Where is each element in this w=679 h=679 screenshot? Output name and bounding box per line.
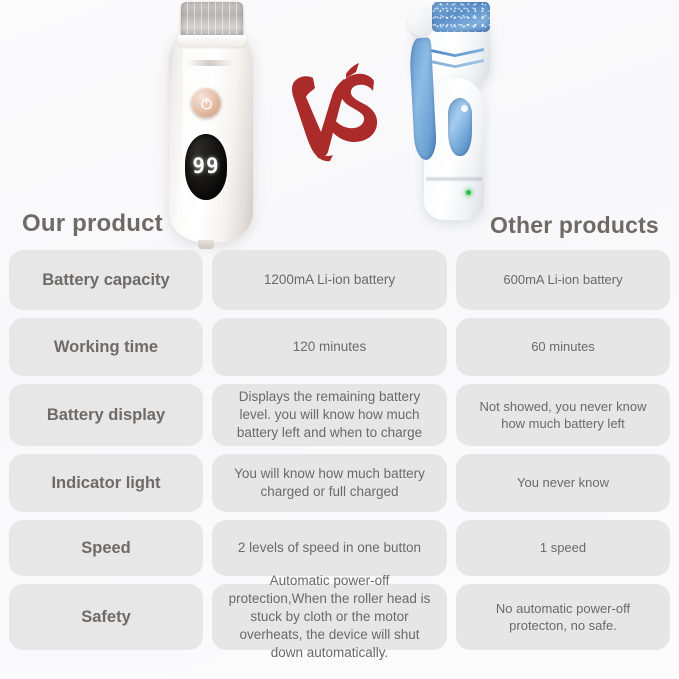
feature-label: Battery display: [9, 384, 203, 446]
battery-level-display: 99: [185, 134, 227, 200]
other-product-chevron-accent: [426, 48, 484, 70]
our-product-value: 120 minutes: [212, 318, 447, 376]
our-product-body: [169, 20, 253, 242]
comparison-table: Battery capacity 1200mA Li-ion battery 6…: [0, 250, 679, 658]
our-product-roller-bezel: [177, 35, 247, 47]
our-product-value: Displays the remaining battery level. yo…: [212, 384, 447, 446]
other-product-value: 60 minutes: [456, 318, 670, 376]
our-product-column-title: Our product: [22, 210, 163, 238]
other-products-column-title: Other products: [490, 212, 659, 239]
indicator-led-icon: [466, 190, 471, 195]
other-product-value: Not showed, you never know how much batt…: [456, 384, 670, 446]
our-product-brand-mark: [187, 60, 233, 66]
table-row: Battery capacity 1200mA Li-ion battery 6…: [0, 250, 679, 310]
table-row: Working time 120 minutes 60 minutes: [0, 318, 679, 376]
table-row: Safety Automatic power-off protection,Wh…: [0, 584, 679, 650]
feature-label: Battery capacity: [9, 250, 203, 310]
other-product-value: 1 speed: [456, 520, 670, 576]
other-product-value: 600mA Li-ion battery: [456, 250, 670, 310]
table-row: Battery display Displays the remaining b…: [0, 384, 679, 446]
our-product-value: You will know how much battery charged o…: [212, 454, 447, 512]
comparison-infographic: 99: [0, 0, 679, 679]
power-button-icon: [191, 88, 221, 118]
battery-level-value: 99: [192, 154, 219, 178]
other-product-image: [404, 0, 508, 222]
our-product-roller-head: [181, 2, 243, 38]
feature-label: Indicator light: [9, 454, 203, 512]
other-product-value: No automatic power-off protecton, no saf…: [456, 584, 670, 650]
other-product-roller-cap: [408, 10, 434, 36]
our-product-value: Automatic power-off protection,When the …: [212, 584, 447, 650]
our-product-image: 99: [163, 2, 259, 248]
table-row: Indicator light You will know how much b…: [0, 454, 679, 512]
other-product-trigger-button: [448, 98, 472, 156]
table-row: Speed 2 levels of speed in one button 1 …: [0, 520, 679, 576]
our-product-value: 1200mA Li-ion battery: [212, 250, 447, 310]
our-product-base: [198, 240, 214, 249]
versus-icon: [288, 58, 386, 162]
feature-label: Safety: [9, 584, 203, 650]
other-product-roller-head: [432, 2, 490, 32]
feature-label: Working time: [9, 318, 203, 376]
feature-label: Speed: [9, 520, 203, 576]
our-product-value: 2 levels of speed in one button: [212, 520, 447, 576]
other-product-seam-ring: [426, 176, 482, 182]
other-product-value: You never know: [456, 454, 670, 512]
